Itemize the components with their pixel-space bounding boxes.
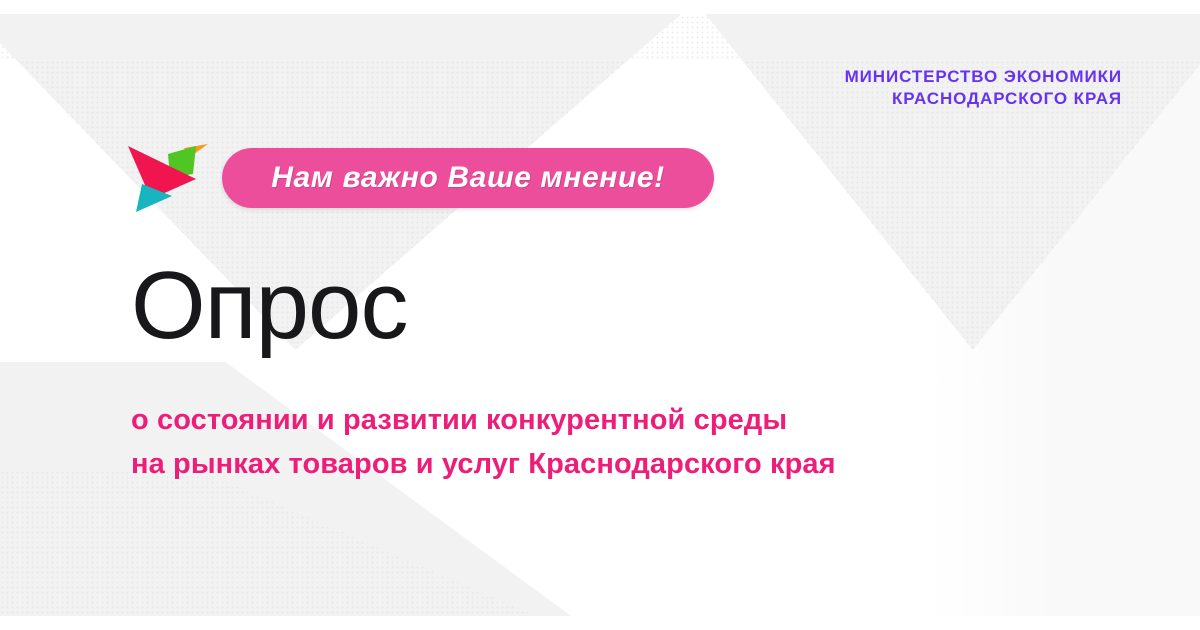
- page-subtitle-line-1: о состоянии и развитии конкурентной сред…: [131, 398, 836, 442]
- background-frame-top: [0, 0, 1200, 14]
- hummingbird-logo: [124, 138, 208, 216]
- background-frame-bottom: [0, 616, 1200, 630]
- opinion-badge-label: Нам важно Ваше мнение!: [271, 161, 665, 195]
- ministry-line-2: КРАСНОДАРСКОГО КРАЯ: [845, 88, 1122, 110]
- poster-banner: МИНИСТЕРСТВО ЭКОНОМИКИ КРАСНОДАРСКОГО КР…: [0, 0, 1200, 630]
- page-subtitle: о состоянии и развитии конкурентной сред…: [131, 398, 836, 486]
- opinion-badge[interactable]: Нам важно Ваше мнение!: [222, 148, 714, 208]
- background-halftone-dots-lower-left: [0, 470, 620, 630]
- page-title: Опрос: [131, 258, 407, 354]
- ministry-attribution: МИНИСТЕРСТВО ЭКОНОМИКИ КРАСНОДАРСКОГО КР…: [845, 66, 1122, 110]
- ministry-line-1: МИНИСТЕРСТВО ЭКОНОМИКИ: [845, 66, 1122, 88]
- page-subtitle-line-2: на рынках товаров и услуг Краснодарского…: [131, 442, 836, 486]
